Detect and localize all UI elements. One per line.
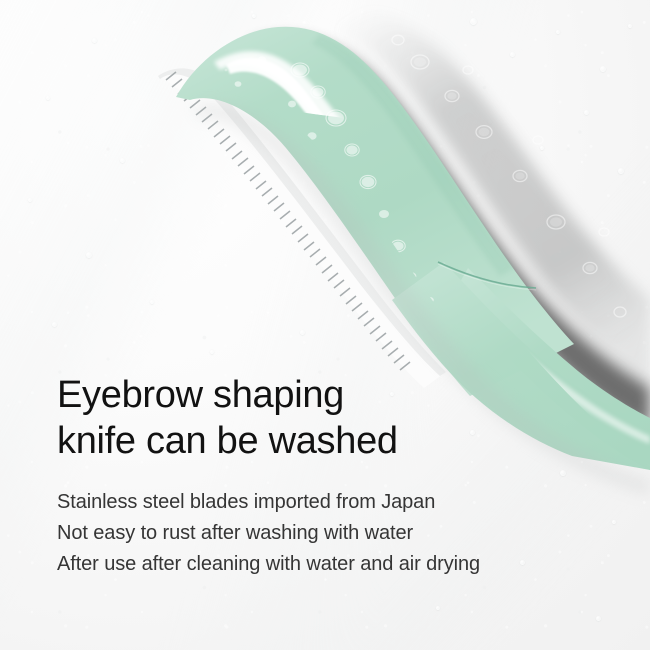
headline-line-1: Eyebrow shaping	[57, 372, 597, 418]
headline-line-2: knife can be washed	[57, 418, 597, 464]
marketing-copy: Eyebrow shaping knife can be washed Stai…	[57, 372, 597, 580]
product-marketing-image: Eyebrow shaping knife can be washed Stai…	[0, 0, 650, 650]
feature-item: Stainless steel blades imported from Jap…	[57, 487, 597, 518]
feature-item: After use after cleaning with water and …	[57, 549, 597, 580]
feature-item: Not easy to rust after washing with wate…	[57, 518, 597, 549]
feature-list: Stainless steel blades imported from Jap…	[57, 487, 597, 580]
